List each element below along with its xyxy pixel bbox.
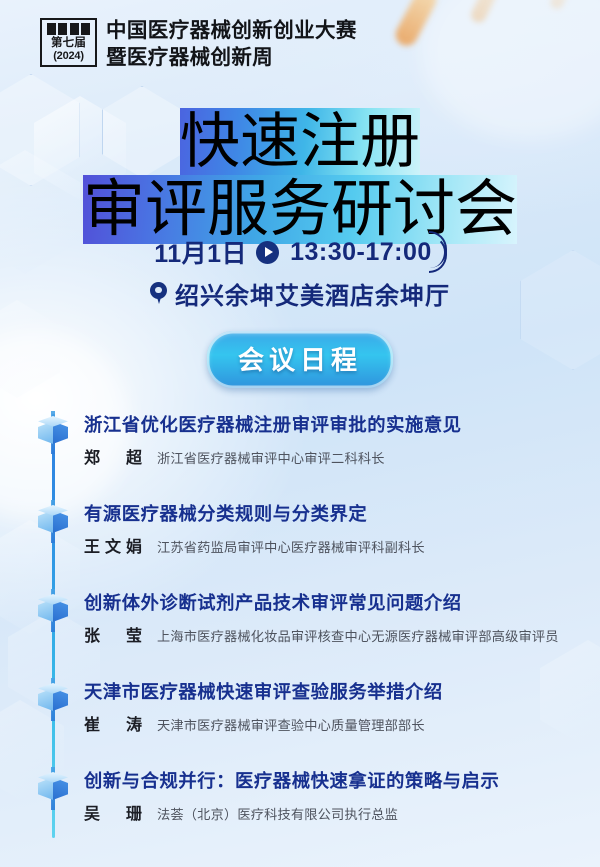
agenda-item-affiliation: 浙江省医疗器械审评中心审评二科科长 (157, 448, 385, 467)
agenda-item: 浙江省优化医疗器械注册审评审批的实施意见 郑 超 浙江省医疗器械审评中心审评二科… (0, 404, 600, 493)
edition-emblem: 第七届 (2024) (40, 18, 97, 67)
emblem-year: (2024) (44, 50, 93, 63)
agenda-item-affiliation: 江苏省药监局审评中心医疗器械审评科副科长 (157, 537, 425, 556)
agenda-item-title: 浙江省优化医疗器械注册审评审批的实施意见 (84, 414, 586, 436)
event-time-wrap: 13:30-17:00 (288, 236, 446, 268)
agenda-item: 天津市医疗器械快速审评查验服务举措介绍 崔 涛 天津市医疗器械审评查验中心质量管… (0, 671, 600, 760)
agenda-item-affiliation: 法荟（北京）医疗科技有限公司执行总监 (157, 804, 398, 823)
agenda-item-speaker: 吴 珊 (84, 800, 147, 824)
header-titles: 中国医疗器械创新创业大赛 暨医疗器械创新周 (106, 18, 357, 72)
event-time: 13:30-17:00 (288, 236, 446, 268)
agenda-item-speaker-row: 崔 涛 天津市医疗器械审评查验中心质量管理部部长 (84, 711, 425, 735)
agenda-badge-label: 会议日程 (238, 345, 362, 375)
agenda-item-affiliation: 天津市医疗器械审评查验中心质量管理部部长 (157, 715, 425, 734)
play-icon (256, 241, 279, 264)
agenda-item-speaker: 郑 超 (84, 444, 147, 468)
orange-capsule-decor-3 (548, 0, 576, 11)
event-location: 绍兴余坤艾美酒店余坤厅 (175, 276, 450, 311)
agenda-item-speaker: 王文娟 (84, 533, 147, 557)
agenda-list: 浙江省优化医疗器械注册审评审批的实施意见 郑 超 浙江省医疗器械审评中心审评二科… (0, 404, 600, 855)
agenda-item-speaker: 张 莹 (84, 622, 147, 646)
agenda-item-title: 有源医疗器械分类规则与分类界定 (84, 503, 586, 525)
agenda-badge-wrap: 会议日程 (0, 331, 600, 388)
event-header: 第七届 (2024) 中国医疗器械创新创业大赛 暨医疗器械创新周 (40, 18, 357, 72)
agenda-item-title: 创新体外诊断试剂产品技术审评常见问题介绍 (84, 592, 586, 614)
agenda-item-speaker-row: 吴 珊 法荟（北京）医疗科技有限公司执行总监 (84, 800, 398, 824)
agenda-item-speaker-row: 王文娟 江苏省药监局审评中心医疗器械审评科副科长 (84, 533, 425, 557)
agenda-item-speaker: 崔 涛 (84, 711, 147, 735)
header-title-line2: 暨医疗器械创新周 (106, 45, 357, 72)
orange-capsule-decor-2 (469, 0, 503, 25)
cube-marker-icon (38, 683, 68, 716)
emblem-squares-icon (44, 23, 93, 35)
orange-capsule-decor-1 (392, 0, 441, 50)
event-date-row: 11月1日 13:30-17:00 (0, 234, 600, 270)
poster-root: 第七届 (2024) 中国医疗器械创新创业大赛 暨医疗器械创新周 快速注册 审评… (0, 0, 600, 867)
cube-marker-icon (38, 594, 68, 627)
event-location-row: 绍兴余坤艾美酒店余坤厅 (0, 276, 600, 311)
agenda-badge: 会议日程 (207, 331, 393, 388)
emblem-edition: 第七届 (44, 37, 93, 50)
agenda-item-speaker-row: 张 莹 上海市医疗器械化妆品审评核查中心无源医疗器械审评部高级审评员 (84, 622, 559, 646)
agenda-item-speaker-row: 郑 超 浙江省医疗器械审评中心审评二科科长 (84, 444, 385, 468)
agenda-item-title: 创新与合规并行：医疗器械快速拿证的策略与启示 (84, 770, 586, 792)
event-date: 11月1日 (154, 234, 247, 270)
agenda-item: 创新与合规并行：医疗器械快速拿证的策略与启示 吴 珊 法荟（北京）医疗科技有限公… (0, 760, 600, 855)
cube-marker-icon (38, 505, 68, 538)
agenda-item: 创新体外诊断试剂产品技术审评常见问题介绍 张 莹 上海市医疗器械化妆品审评核查中… (0, 582, 600, 671)
map-pin-icon (150, 282, 167, 305)
agenda-item: 有源医疗器械分类规则与分类界定 王文娟 江苏省药监局审评中心医疗器械审评科副科长 (0, 493, 600, 582)
cube-marker-icon (38, 772, 68, 805)
agenda-item-title: 天津市医疗器械快速审评查验服务举措介绍 (84, 681, 586, 703)
cube-marker-icon (38, 416, 68, 449)
agenda-item-affiliation: 上海市医疗器械化妆品审评核查中心无源医疗器械审评部高级审评员 (157, 626, 559, 645)
header-title-line1: 中国医疗器械创新创业大赛 (106, 18, 357, 45)
